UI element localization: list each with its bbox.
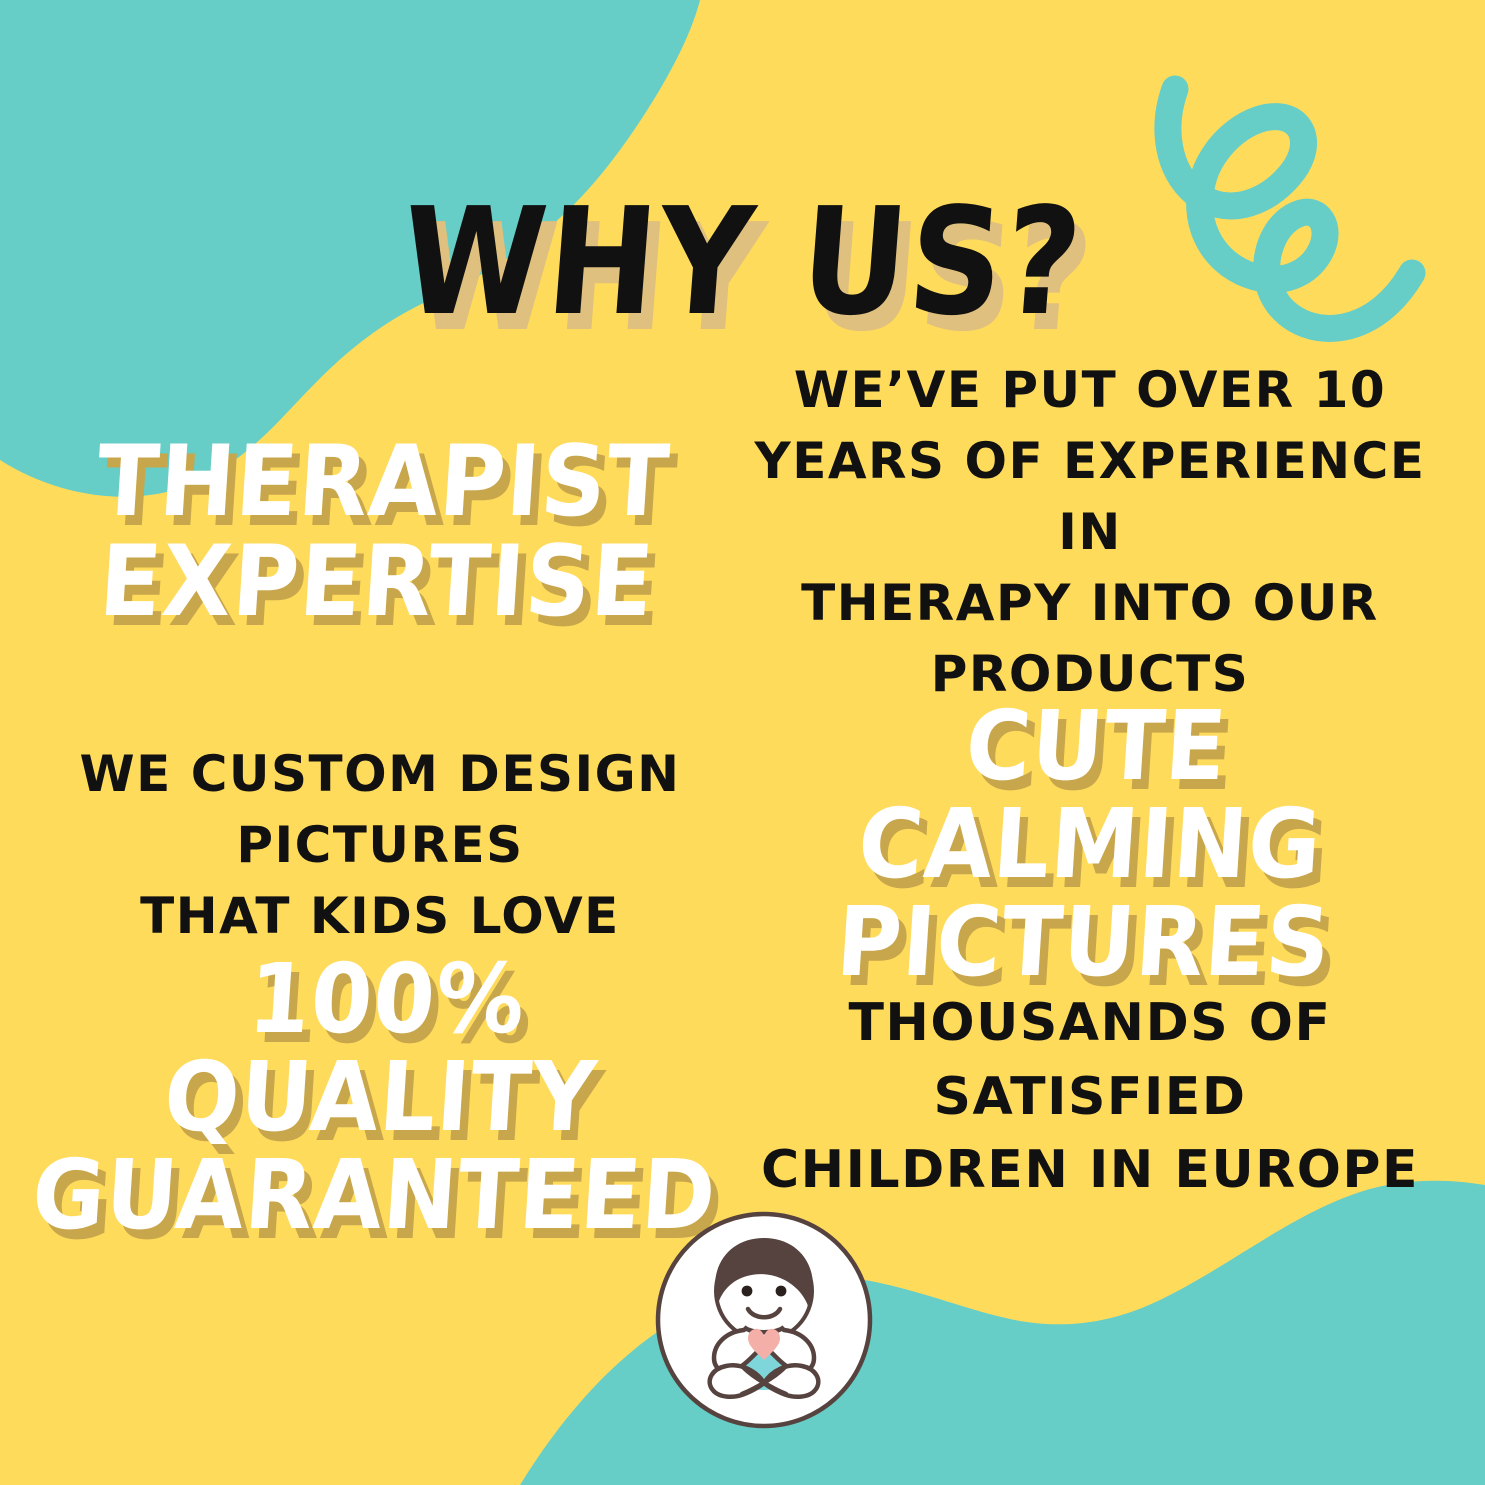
feature-custom-design-pictures: WE CUSTOM DESIGN PICTURES THAT KIDS LOVE (55, 730, 705, 960)
meditating-child-logo (652, 1208, 876, 1432)
logo-eye-left (742, 1286, 753, 1297)
feature-satisfied-children-text: THOUSANDS OF SATISFIED CHILDREN IN EUROP… (761, 987, 1419, 1208)
feature-custom-design-pictures-text: WE CUSTOM DESIGN PICTURES THAT KIDS LOVE (80, 739, 681, 952)
feature-quality-guaranteed-text: 100% QUALITY GUARANTEED (29, 951, 731, 1245)
page-title: WHY US? (0, 188, 1485, 336)
feature-satisfied-children: THOUSANDS OF SATISFIED CHILDREN IN EUROP… (740, 990, 1440, 1205)
feature-cute-calming-pictures: CUTE CALMING PICTURES (740, 730, 1440, 960)
page-title-text: WHY US? (397, 188, 1088, 336)
feature-grid: THERAPIST EXPERTISE WE’VE PUT OVER 10 YE… (0, 400, 1485, 1200)
feature-years-of-experience: WE’VE PUT OVER 10 YEARS OF EXPERIENCE IN… (740, 400, 1440, 665)
feature-therapist-expertise-text: THERAPIST EXPERTISE (88, 433, 673, 633)
logo-eye-right (776, 1286, 787, 1297)
feature-quality-guaranteed: 100% QUALITY GUARANTEED (55, 990, 705, 1205)
feature-therapist-expertise: THERAPIST EXPERTISE (55, 400, 705, 665)
feature-cute-calming-pictures-text: CUTE CALMING PICTURES (759, 698, 1422, 992)
poster-canvas: WHY US? THERAPIST EXPERTISE WE’VE PUT OV… (0, 0, 1485, 1485)
feature-years-of-experience-text: WE’VE PUT OVER 10 YEARS OF EXPERIENCE IN… (740, 355, 1440, 710)
